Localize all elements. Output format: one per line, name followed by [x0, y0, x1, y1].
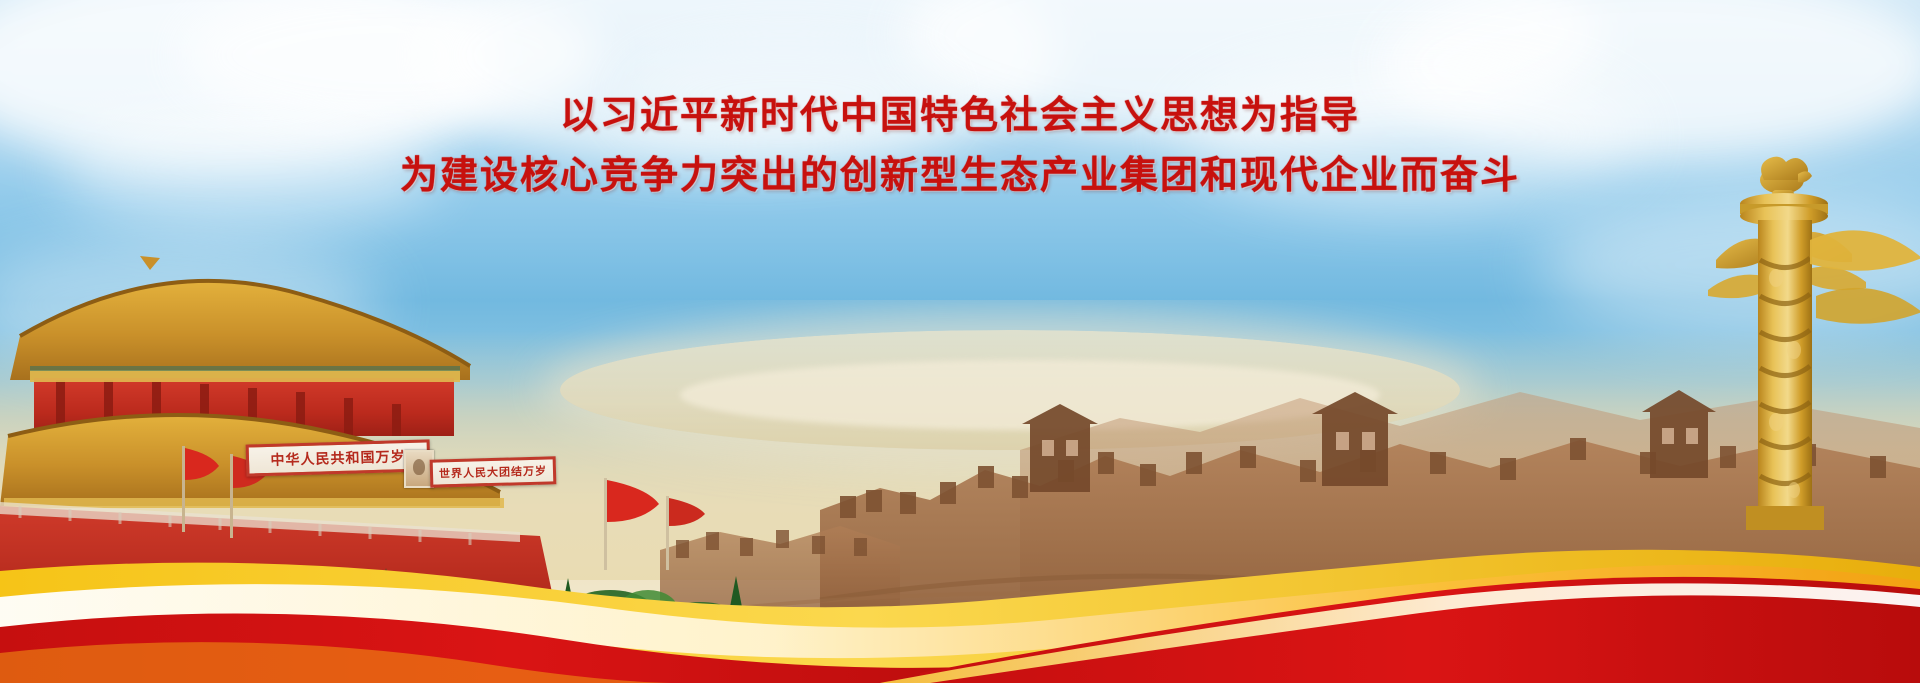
gate-plaque-right: 世界人民大团结万岁 [430, 456, 557, 488]
gold-cloud-flourish [1810, 200, 1920, 420]
cloud [60, 110, 440, 230]
cloud [1180, 60, 1640, 210]
bottom-ribbons [0, 523, 1920, 683]
party-banner: 中华人民共和国万岁 世界人民大团结万岁 [0, 0, 1920, 683]
ribbon-illustration [0, 523, 1920, 683]
cloud [620, 40, 950, 150]
gate-plaque-left: 中华人民共和国万岁 [246, 439, 431, 476]
